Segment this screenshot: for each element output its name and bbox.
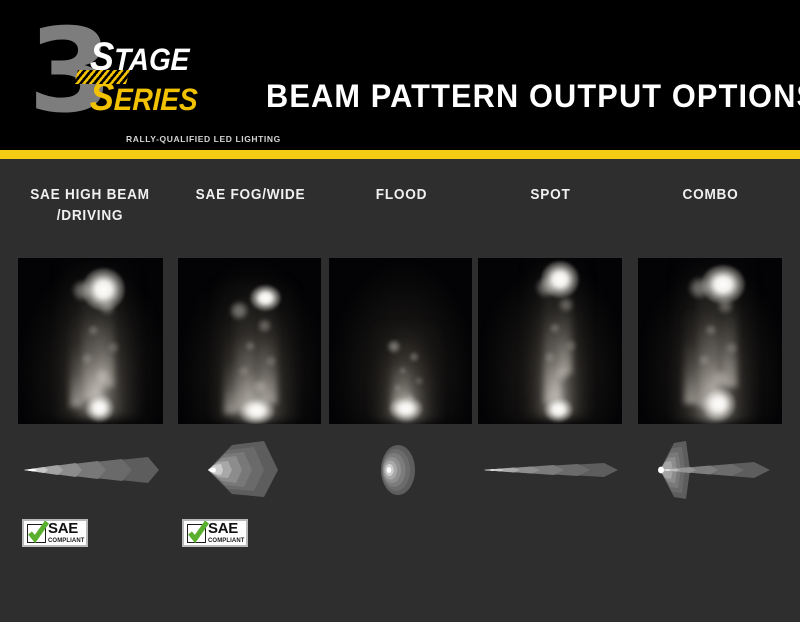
beam-column-spot: SPOT <box>478 159 623 622</box>
beam-photo-flood <box>329 258 472 424</box>
beam-diagram-svg <box>478 439 623 501</box>
checkbox-check-icon <box>27 524 46 543</box>
beam-diagram-spot <box>478 439 623 501</box>
sae-badge-subtitle: COMPLIANT <box>48 538 85 544</box>
sae-badge-text: SAE COMPLIANT <box>208 522 245 543</box>
beam-column-sae-fog-wide: SAE FOG/WIDE <box>178 159 323 622</box>
logo-series-rest: ERIES <box>113 82 198 117</box>
column-label: SAE HIGH BEAM /DRIVING <box>15 185 165 226</box>
column-label: COMBO <box>642 185 778 206</box>
sae-badge-title: SAE <box>48 522 85 536</box>
header-bar: 3 STAGE SERIES RALLY-QUALIFIED LED LIGHT… <box>0 0 800 150</box>
page-title: BEAM PATTERN OUTPUT OPTIONS <box>266 78 800 115</box>
sae-badge-text: SAE COMPLIANT <box>48 522 85 543</box>
sae-badge-subtitle: COMPLIANT <box>208 538 245 544</box>
beam-diagram-svg <box>178 439 323 501</box>
beam-photo-image <box>329 258 472 424</box>
column-label: SPOT <box>482 185 618 206</box>
sae-compliant-badge: SAE COMPLIANT <box>22 519 88 547</box>
beam-photo-sae-high-beam-driving <box>18 258 163 424</box>
beam-diagram-sae-high-beam-driving <box>18 439 163 501</box>
beam-column-sae-high-beam-driving: SAE HIGH BEAM /DRIVING <box>18 159 163 622</box>
beam-diagram-svg <box>18 439 163 501</box>
beam-photo-image <box>18 258 163 424</box>
beam-photo-combo <box>638 258 782 424</box>
brand-logo: 3 STAGE SERIES RALLY-QUALIFIED LED LIGHT… <box>28 26 248 134</box>
beam-diagram-flood <box>329 439 474 501</box>
beam-photo-image <box>638 258 782 424</box>
logo-stripe-accent-icon <box>74 70 130 84</box>
accent-divider <box>0 150 800 159</box>
beam-diagram-svg <box>638 439 783 501</box>
beam-photo-image <box>478 258 622 424</box>
sae-badge-title: SAE <box>208 522 245 536</box>
beam-pattern-grid: SAE HIGH BEAM /DRIVING <box>0 159 800 622</box>
beam-diagram-combo <box>638 439 783 501</box>
beam-pattern-infographic: 3 STAGE SERIES RALLY-QUALIFIED LED LIGHT… <box>0 0 800 622</box>
beam-diagram-sae-fog-wide <box>178 439 323 501</box>
column-label: FLOOD <box>333 185 469 206</box>
beam-photo-spot <box>478 258 622 424</box>
column-label: SAE FOG/WIDE <box>182 185 318 206</box>
sae-compliant-badge: SAE COMPLIANT <box>182 519 248 547</box>
beam-photo-sae-fog-wide <box>178 258 321 424</box>
beam-column-flood: FLOOD <box>329 159 474 622</box>
beam-column-combo: COMBO <box>638 159 783 622</box>
beam-diagram-svg <box>329 439 474 501</box>
checkbox-check-icon <box>187 524 206 543</box>
beam-photo-image <box>178 258 321 424</box>
logo-tagline: RALLY-QUALIFIED LED LIGHTING <box>126 134 281 144</box>
logo-wordmark: STAGE SERIES <box>90 38 260 116</box>
